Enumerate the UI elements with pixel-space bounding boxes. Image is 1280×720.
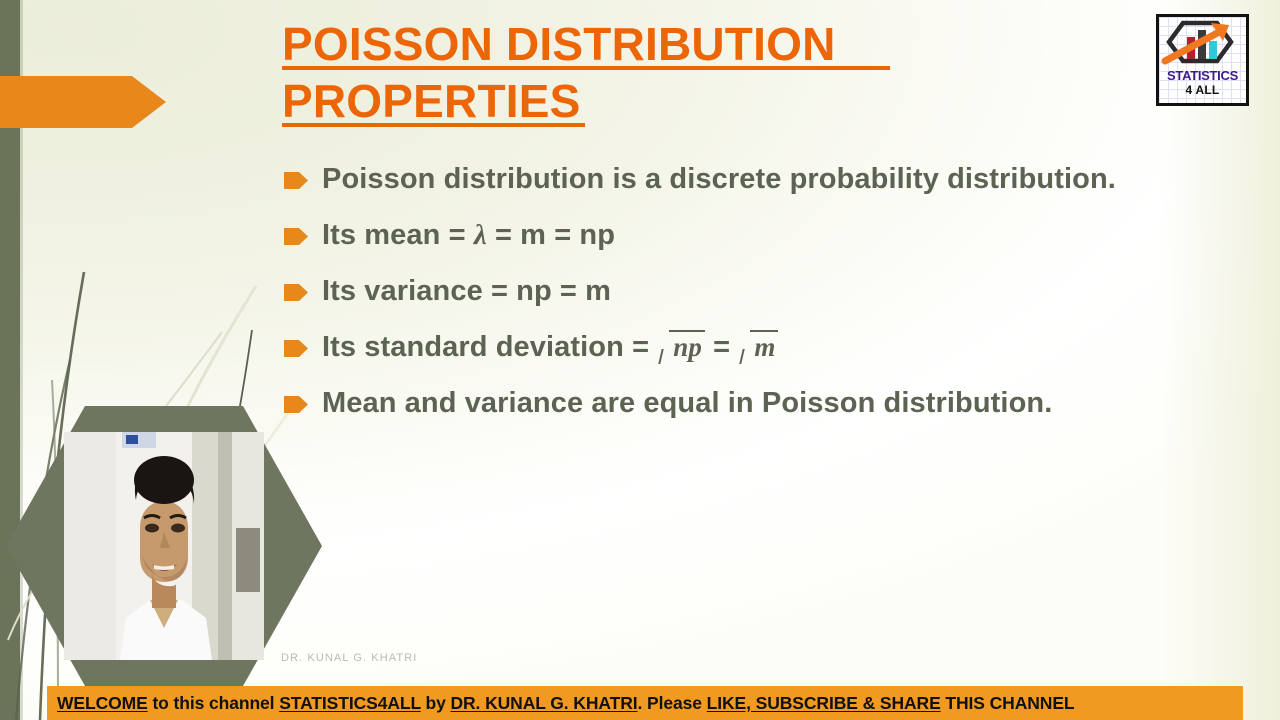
channel-promo-banner: WELCOME to this channel STATISTICS4ALL b…	[47, 686, 1243, 720]
banner-segment-3: by	[421, 693, 451, 713]
banner-segment-5: . Please	[638, 693, 707, 713]
bullet-arrow-icon	[284, 172, 308, 189]
list-item-mean-equals-variance: Mean and variance are equal in Poisson d…	[282, 384, 1234, 422]
bullet-arrow-icon	[284, 228, 308, 245]
page-title: POISSON DISTRIBUTION PROPERTIES	[282, 16, 942, 130]
bullet-text-mean-suffix: = m = np	[487, 219, 615, 251]
banner-segment-4: DR. KUNAL G. KHATRI	[450, 693, 637, 713]
list-item-standard-deviation: Its standard deviation = np = m	[282, 328, 1234, 366]
title-underline-1	[282, 66, 890, 70]
banner-text: WELCOME to this channel STATISTICS4ALL b…	[47, 693, 1075, 714]
bullet-text-variance: Its variance = np = m	[322, 272, 1234, 310]
bullet-text-mean-equals-variance: Mean and variance are equal in Poisson d…	[322, 384, 1234, 422]
bullet-text-sd-middle: =	[705, 331, 738, 363]
banner-segment-6: LIKE, SUBSCRIBE & SHARE	[707, 693, 941, 713]
lambda-symbol: λ	[474, 219, 487, 251]
bullet-text-definition: Poisson distribution is a discrete proba…	[322, 160, 1234, 198]
bullet-list: Poisson distribution is a discrete proba…	[282, 160, 1234, 440]
sqrt-m-symbol: m	[738, 328, 778, 366]
logo-title-line-2: 4 ALL	[1159, 83, 1246, 97]
sqrt-np-symbol: np	[657, 328, 705, 366]
list-item-mean: Its mean = λ = m = np	[282, 216, 1234, 254]
banner-segment-2: STATISTICS4ALL	[279, 693, 421, 713]
list-item-definition: Poisson distribution is a discrete proba…	[282, 160, 1234, 198]
banner-segment-1: to this channel	[148, 693, 280, 713]
presenter-webcam[interactable]	[6, 406, 322, 686]
statistics4all-logo: STATISTICS 4 ALL	[1156, 14, 1249, 106]
presenter-portrait	[64, 432, 264, 660]
bullet-arrow-icon	[284, 284, 308, 301]
bullet-text-mean-prefix: Its mean =	[322, 219, 474, 251]
logo-title-line-1: STATISTICS	[1159, 68, 1246, 83]
banner-segment-0: WELCOME	[57, 693, 148, 713]
title-line-1: POISSON DISTRIBUTION	[282, 18, 835, 70]
title-line-2: PROPERTIES	[282, 75, 581, 127]
title-underline-2	[282, 123, 585, 127]
bullet-text-sd-prefix: Its standard deviation =	[322, 331, 657, 363]
slide-canvas: POISSON DISTRIBUTION PROPERTIES STATISTI…	[0, 0, 1280, 720]
list-item-variance: Its variance = np = m	[282, 272, 1234, 310]
banner-segment-7: THIS CHANNEL	[941, 693, 1075, 713]
bullet-arrow-icon	[284, 340, 308, 357]
presenter-credit: DR. KUNAL G. KHATRI	[281, 652, 417, 664]
logo-chart-icon	[1159, 17, 1246, 67]
webcam-video-feed[interactable]	[64, 432, 264, 660]
